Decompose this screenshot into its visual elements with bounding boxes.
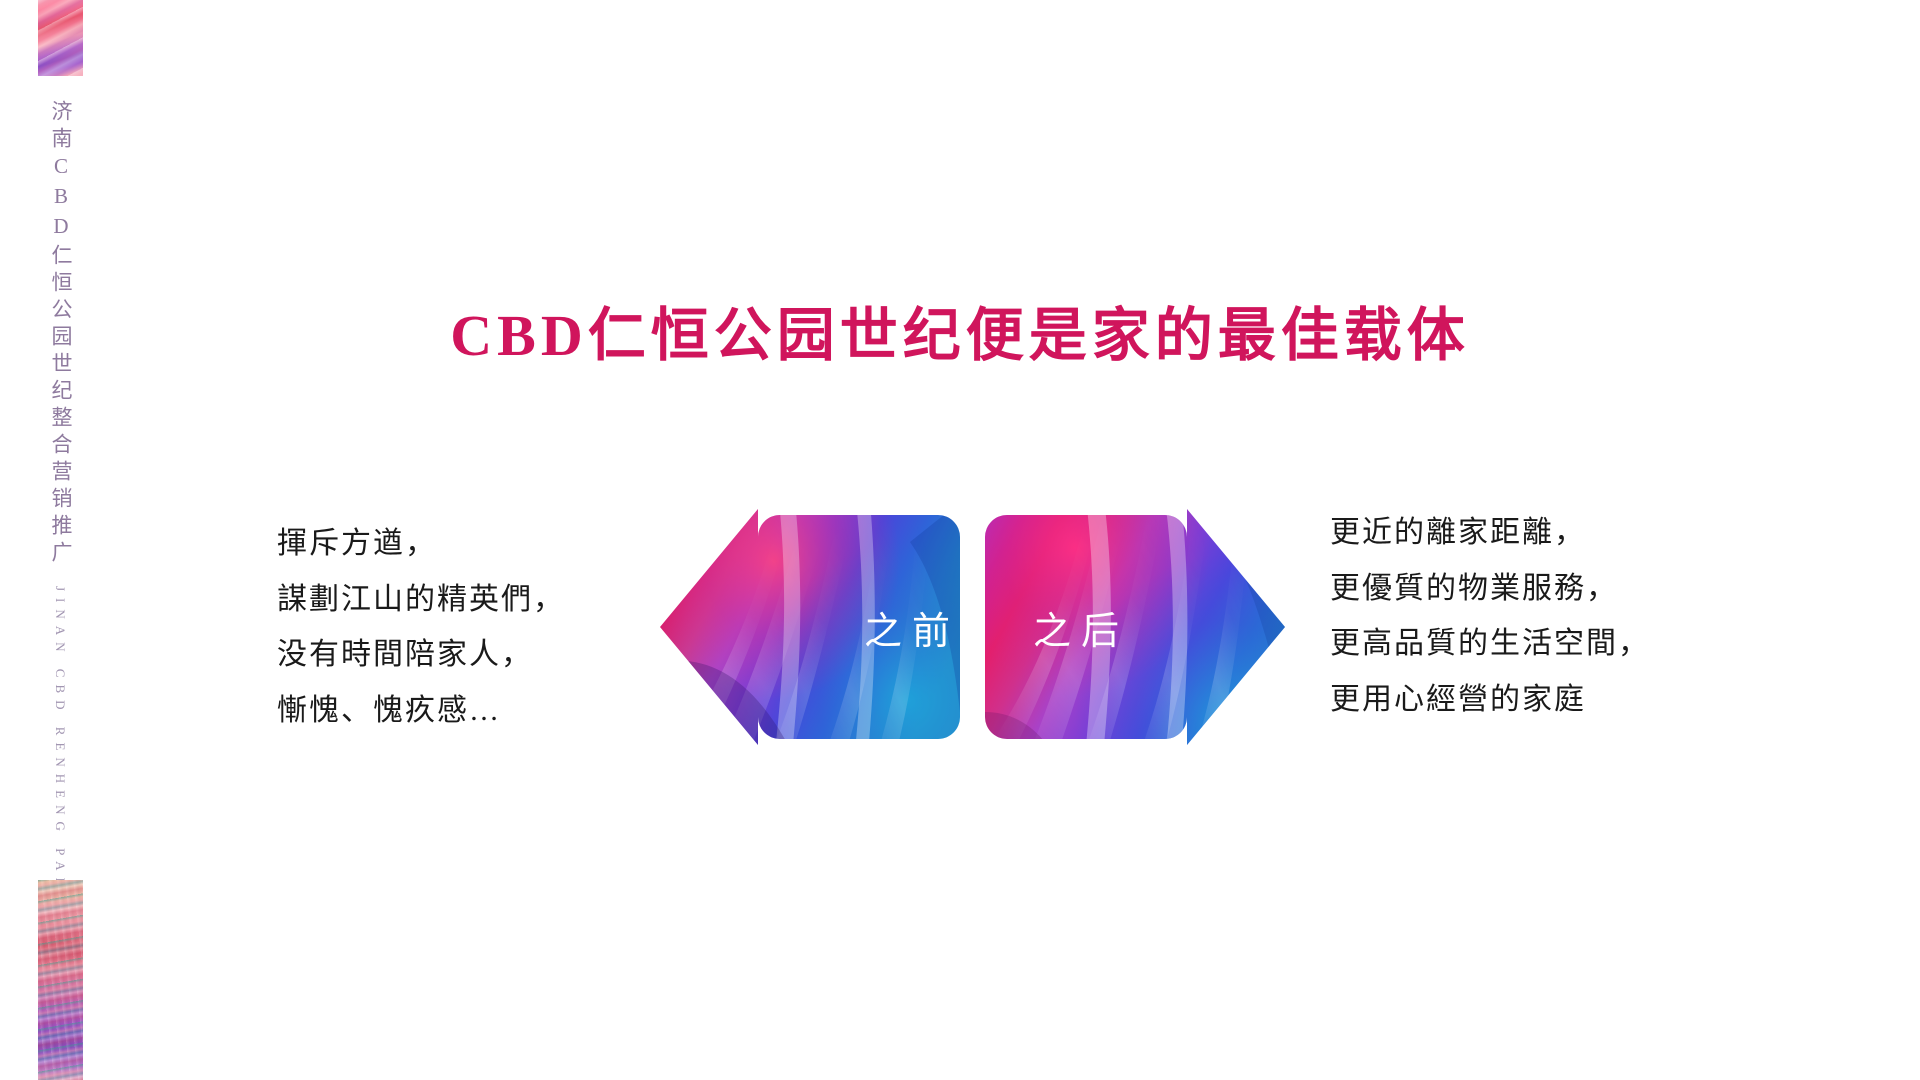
gradient-texture-strip-top (38, 0, 83, 76)
right-text-block: 更近的離家距離， 更優質的物業服務， 更高品質的生活空間， 更用心經營的家庭 (1330, 505, 1650, 727)
right-text-line: 更高品質的生活空間， (1330, 616, 1650, 672)
gradient-texture-strip-bottom (38, 880, 83, 1080)
right-text-line: 更近的離家距離， (1330, 505, 1650, 561)
left-text-line: 謀劃江山的精英們， (277, 572, 565, 628)
left-text-block: 揮斥方遒， 謀劃江山的精英們， 没有時間陪家人， 慚愧、愧疚感… (277, 516, 565, 738)
page-title: CBD仁恒公园世纪便是家的最佳载体 (0, 288, 1920, 372)
sidebar: 济南CBD仁恒公园世纪整合营销推广 JINAN CBD RENHENG PARK… (38, 0, 83, 1080)
left-text-line: 没有時間陪家人， (277, 627, 565, 683)
arrow-left-icon (660, 462, 960, 792)
left-text-line: 揮斥方遒， (277, 516, 565, 572)
after-arrow-graphic: 之后 (985, 462, 1285, 792)
before-arrow-graphic: 之前 (660, 462, 960, 792)
right-text-line: 更優質的物業服務， (1330, 561, 1650, 617)
right-text-line: 更用心經營的家庭 (1330, 672, 1650, 728)
left-text-line: 慚愧、愧疚感… (277, 683, 565, 739)
arrow-right-icon (985, 462, 1285, 792)
slide-canvas: 济南CBD仁恒公园世纪整合营销推广 JINAN CBD RENHENG PARK… (0, 0, 1920, 1080)
